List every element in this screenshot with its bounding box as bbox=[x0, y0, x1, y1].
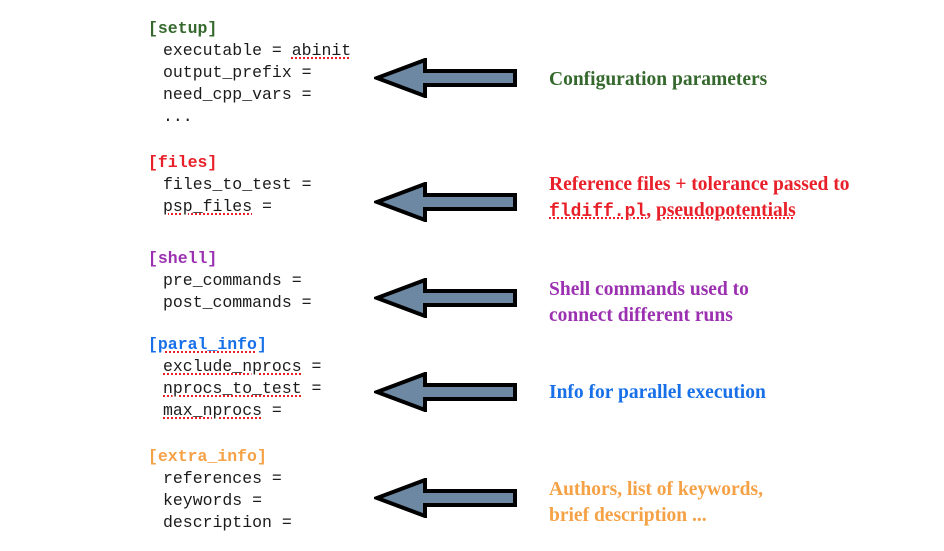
annotation-text: connect different runs bbox=[549, 305, 733, 326]
config-key: psp_files bbox=[163, 197, 252, 216]
config-assign-operator: = bbox=[262, 41, 292, 60]
config-line: psp_files = bbox=[148, 196, 312, 218]
config-key: exclude_nprocs bbox=[163, 357, 302, 376]
annotation-files: Reference files + tolerance passed tofld… bbox=[549, 172, 849, 225]
config-key: max_nprocs bbox=[163, 401, 262, 420]
config-section-paral_info: [paral_info]exclude_nprocs =nprocs_to_te… bbox=[148, 334, 321, 422]
section-name-shell: shell bbox=[158, 249, 208, 268]
config-assign-operator: = bbox=[262, 469, 282, 488]
annotation-line: fldiff.pl, pseudopotentials bbox=[549, 198, 849, 226]
annotation-line: Authors, list of keywords, bbox=[549, 477, 763, 503]
config-assign-operator: = bbox=[302, 379, 322, 398]
config-assign-operator: = bbox=[242, 491, 262, 510]
config-assign-operator: = bbox=[292, 293, 312, 312]
section-name-extra_info: extra_info bbox=[158, 447, 257, 466]
section-header-files: [files] bbox=[148, 152, 312, 174]
arrow-pointing-to-extra-info-icon bbox=[374, 478, 520, 518]
config-value: abinit bbox=[292, 41, 351, 60]
config-line: exclude_nprocs = bbox=[148, 356, 321, 378]
annotation-shell: Shell commands used toconnect different … bbox=[549, 277, 749, 328]
config-assign-operator: = bbox=[262, 401, 282, 420]
section-bracket-open: [ bbox=[148, 447, 158, 466]
section-bracket-close: ] bbox=[257, 447, 267, 466]
section-bracket-close: ] bbox=[207, 249, 217, 268]
section-bracket-open: [ bbox=[148, 153, 158, 172]
config-key: post_commands bbox=[163, 293, 292, 312]
section-bracket-close: ] bbox=[207, 19, 217, 38]
arrow-pointing-to-shell-icon bbox=[374, 278, 520, 318]
config-key: files_to_test bbox=[163, 175, 292, 194]
section-bracket-open: [ bbox=[148, 335, 158, 354]
arrow-pointing-to-files-icon bbox=[374, 182, 520, 222]
annotation-line: Reference files + tolerance passed to bbox=[549, 172, 849, 198]
config-section-shell: [shell]pre_commands =post_commands = bbox=[148, 248, 312, 314]
config-section-extra_info: [extra_info]references =keywords =descri… bbox=[148, 446, 292, 534]
config-line: max_nprocs = bbox=[148, 400, 321, 422]
section-header-paral_info: [paral_info] bbox=[148, 334, 321, 356]
config-line: pre_commands = bbox=[148, 270, 312, 292]
config-line: references = bbox=[148, 468, 292, 490]
config-key: pre_commands bbox=[163, 271, 282, 290]
arrow-pointing-to-setup-icon bbox=[374, 58, 520, 98]
annotation-code-token: fldiff.pl bbox=[549, 202, 646, 222]
annotation-text: , bbox=[646, 200, 656, 221]
annotation-setup: Configuration parameters bbox=[549, 67, 767, 93]
section-name-files: files bbox=[158, 153, 208, 172]
slide-canvas: [setup]executable = abinitoutput_prefix … bbox=[0, 0, 944, 551]
section-bracket-open: [ bbox=[148, 249, 158, 268]
annotation-extra_info: Authors, list of keywords,brief descript… bbox=[549, 477, 763, 528]
annotation-text: Info for parallel execution bbox=[549, 382, 766, 403]
section-name-setup: setup bbox=[158, 19, 208, 38]
section-bracket-close: ] bbox=[257, 335, 267, 354]
section-bracket-open: [ bbox=[148, 19, 158, 38]
section-bracket-close: ] bbox=[207, 153, 217, 172]
config-assign-operator: = bbox=[282, 271, 302, 290]
config-key: references bbox=[163, 469, 262, 488]
annotation-text: Configuration parameters bbox=[549, 69, 767, 90]
config-section-setup: [setup]executable = abinitoutput_prefix … bbox=[148, 18, 351, 128]
annotation-text: brief description ... bbox=[549, 505, 707, 526]
config-assign-operator: = bbox=[272, 513, 292, 532]
config-section-files: [files]files_to_test =psp_files = bbox=[148, 152, 312, 218]
config-key: nprocs_to_test bbox=[163, 379, 302, 398]
config-line: files_to_test = bbox=[148, 174, 312, 196]
config-key: need_cpp_vars bbox=[163, 85, 292, 104]
annotation-paral_info: Info for parallel execution bbox=[549, 380, 766, 406]
config-key: executable bbox=[163, 41, 262, 60]
config-line: nprocs_to_test = bbox=[148, 378, 321, 400]
annotation-line: Configuration parameters bbox=[549, 67, 767, 93]
section-name-paral_info: paral_info bbox=[158, 335, 257, 354]
section-header-shell: [shell] bbox=[148, 248, 312, 270]
arrow-pointing-to-paral-info-icon bbox=[374, 372, 520, 412]
config-key: keywords bbox=[163, 491, 242, 510]
config-assign-operator: = bbox=[292, 63, 312, 82]
annotation-line: connect different runs bbox=[549, 303, 749, 329]
config-assign-operator: = bbox=[292, 175, 312, 194]
annotation-line: Shell commands used to bbox=[549, 277, 749, 303]
section-header-extra_info: [extra_info] bbox=[148, 446, 292, 468]
annotation-line: Info for parallel execution bbox=[549, 380, 766, 406]
annotation-text: Authors, list of keywords, bbox=[549, 479, 763, 500]
config-line: need_cpp_vars = bbox=[148, 84, 351, 106]
config-assign-operator: = bbox=[302, 357, 322, 376]
annotation-line: brief description ... bbox=[549, 503, 763, 529]
annotation-text: pseudopotentials bbox=[656, 200, 796, 221]
section-header-setup: [setup] bbox=[148, 18, 351, 40]
annotation-text: Shell commands used to bbox=[549, 279, 749, 300]
config-line: post_commands = bbox=[148, 292, 312, 314]
config-line: keywords = bbox=[148, 490, 292, 512]
config-line: description = bbox=[148, 512, 292, 534]
config-assign-operator: = bbox=[252, 197, 272, 216]
config-key: description bbox=[163, 513, 272, 532]
config-line: ... bbox=[148, 106, 351, 128]
annotation-text: Reference files + tolerance passed to bbox=[549, 174, 849, 195]
config-line: executable = abinit bbox=[148, 40, 351, 62]
config-key: output_prefix bbox=[163, 63, 292, 82]
config-key: ... bbox=[163, 107, 193, 126]
config-assign-operator: = bbox=[292, 85, 312, 104]
config-line: output_prefix = bbox=[148, 62, 351, 84]
